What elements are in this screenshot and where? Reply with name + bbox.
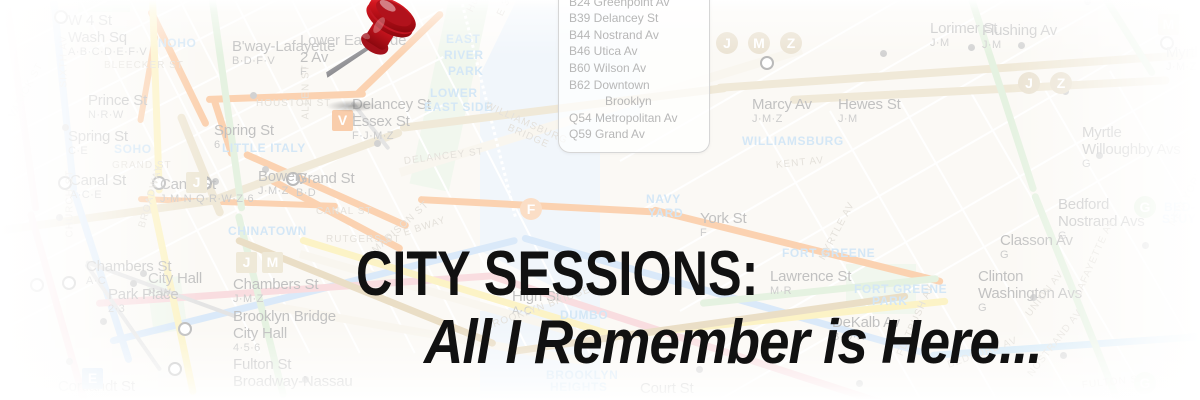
station-name: Brooklyn Bridge <box>233 308 336 325</box>
station-routes: J·M·Z <box>258 185 307 197</box>
station-name: W 4 St <box>68 12 147 29</box>
route-square-j: J <box>236 252 257 273</box>
road-label: BLEECKER ST <box>104 60 184 71</box>
station-label: York StF <box>700 210 746 239</box>
bus-route-item: Brooklyn <box>569 93 699 110</box>
station-label: Chambers StJ·M·Z <box>233 276 318 305</box>
bus-route-item: B62 Downtown <box>569 77 699 94</box>
station-label: City HallR·W <box>148 270 202 299</box>
nyc-transit-bus-panel: NYC Transit Bus B24 Greenpoint AvB39 Del… <box>558 0 710 153</box>
station-dot <box>66 358 73 365</box>
station-label: W 4 StWash SqA·B·C·D·E·F·V <box>68 12 147 58</box>
road-label: SIXTH AV <box>59 35 70 87</box>
road-label: CHURCH ST <box>65 170 76 238</box>
route-bullet-g: G <box>1134 196 1156 218</box>
neighborhood-label: WILLIAMSBURG <box>742 134 844 148</box>
station-name: Flushing Av <box>982 22 1057 39</box>
station-name: York St <box>700 210 746 227</box>
transfer-station <box>54 10 68 24</box>
station-dot <box>56 214 63 221</box>
station-routes: B·Q·R <box>832 331 900 343</box>
station-label: Lawrence StM·R <box>770 268 851 297</box>
station-routes: J·M·Z <box>752 113 812 125</box>
station-label: Prince StN·R·W <box>88 92 147 121</box>
neighborhood-label: NAVY <box>646 192 681 206</box>
transfer-station <box>30 278 44 292</box>
station-name: Court St <box>640 380 693 397</box>
neighborhood-label: NOHO <box>158 36 196 50</box>
neighborhood-label: PARK <box>872 294 908 308</box>
road-label: ALLEN ST <box>301 64 312 119</box>
station-name: Fulton St <box>233 356 353 373</box>
station-routes: G <box>1000 249 1073 261</box>
station-routes: R·W <box>148 287 202 299</box>
station-name: City Hall <box>148 270 202 287</box>
station-name: Classon Av <box>1000 232 1073 249</box>
station-routes: J·M·Z <box>233 293 318 305</box>
transfer-station <box>178 322 192 336</box>
station-routes: J·M <box>982 39 1057 51</box>
station-routes: A·C·E <box>70 189 126 201</box>
station-label: Hewes StJ·M <box>838 96 901 125</box>
station-name: Spring St <box>214 122 274 139</box>
station-label: Marcy AvJ·M·Z <box>752 96 812 125</box>
station-routes: J·M·Z <box>1166 61 1200 73</box>
station-name: Chambers St <box>233 276 318 293</box>
station-label: DeKalb AvB·Q·R <box>832 314 900 343</box>
station-label: Flushing AvJ·M <box>982 22 1057 51</box>
road-label: CANAL ST <box>316 206 373 217</box>
station-routes: 4·5·6 <box>233 342 336 354</box>
station-routes: N·R·W <box>88 109 147 121</box>
station-name: Bowery <box>258 168 307 185</box>
bus-route-item: B44 Nostrand Av <box>569 27 699 44</box>
bus-route-item: Q54 Metropolitan Av <box>569 110 699 127</box>
station-label: Court St <box>640 380 693 397</box>
station-label: Canal StA·C·E <box>70 172 126 201</box>
route-bullet-j: J <box>1018 72 1040 94</box>
route-square-m: M <box>262 252 283 273</box>
station-dot <box>880 50 887 57</box>
neighborhood-label: HEIGHTS <box>550 380 608 394</box>
bus-route-item: B46 Utica Av <box>569 43 699 60</box>
station-name: Bedford <box>1058 196 1145 213</box>
station-name-second-line: City Hall <box>233 325 336 342</box>
station-label: Classon AvG <box>1000 232 1073 261</box>
station-label: BoweryJ·M·Z <box>258 168 307 197</box>
station-dot <box>1060 352 1067 359</box>
route-bullet-f: F <box>520 198 542 220</box>
station-name: Myrtle Av <box>1166 44 1200 61</box>
station-routes: F·J·M·Z <box>352 130 431 142</box>
station-routes: J·M <box>838 113 901 125</box>
pushpin-marker-icon <box>322 0 442 124</box>
city-sessions-banner: W 4 StWash SqA·B·C·D·E·F·VPrince StN·R·W… <box>0 0 1200 400</box>
route-bullet-g: G <box>1134 372 1156 394</box>
station-label: Myrtle AvJ·M·Z <box>1166 44 1200 73</box>
station-name: Myrtle <box>1082 124 1181 141</box>
station-label: Fulton StBroadway-Nassau <box>233 356 353 390</box>
station-name-second-line: Willoughby Avs <box>1082 141 1181 158</box>
station-routes: 2·3 <box>108 303 179 315</box>
route-bullet-z: Z <box>1050 72 1072 94</box>
station-label: MyrtleWilloughby AvsG <box>1082 124 1181 170</box>
road-label: HOUSTON ST <box>256 98 331 109</box>
station-name-second-line: Wash Sq <box>68 29 147 46</box>
station-routes: A·B·C·D·E·F·V <box>68 46 147 58</box>
bus-route-item: B60 Wilson Av <box>569 60 699 77</box>
bus-route-item: Q59 Grand Av <box>569 126 699 143</box>
station-name: DeKalb Av <box>832 314 900 331</box>
route-bullet-j: J <box>716 32 738 54</box>
station-dot <box>856 380 863 387</box>
station-dot <box>100 318 107 325</box>
station-label: Brooklyn BridgeCity Hall4·5·6 <box>233 308 336 354</box>
transfer-station <box>168 362 182 376</box>
station-name: Marcy Av <box>752 96 812 113</box>
station-name: Hewes St <box>838 96 901 113</box>
neighborhood-label: CHINATOWN <box>228 224 307 238</box>
route-square-m: M <box>1158 14 1179 35</box>
neighborhood-label: LITTLE ITALY <box>222 141 306 155</box>
neighborhood-label: DUMBO <box>560 308 608 322</box>
neighborhood-label: EAST <box>446 32 480 46</box>
route-square-j: J <box>186 172 207 193</box>
station-dot <box>696 366 703 373</box>
bus-route-item: B39 Delancey St <box>569 10 699 27</box>
station-name: Prince St <box>88 92 147 109</box>
route-bullet-m: M <box>748 32 770 54</box>
station-dot <box>1142 242 1149 249</box>
bus-route-item: B24 Greenpoint Av <box>569 0 699 10</box>
station-routes: J·M·N·Q·R·W·Z·6 <box>160 193 254 205</box>
bus-route-list: B24 Greenpoint AvB39 Delancey StB44 Nost… <box>569 0 699 143</box>
station-routes: M·R <box>770 285 851 297</box>
transfer-station <box>760 56 774 70</box>
station-name: Lawrence St <box>770 268 851 285</box>
station-name: Clinton <box>978 268 1082 285</box>
station-routes: F <box>700 227 746 239</box>
neighborhood-label: YARD <box>648 206 683 220</box>
route-bullet-z: Z <box>780 32 802 54</box>
neighborhood-label: RIVER <box>444 48 484 62</box>
route-square-e: E <box>82 368 103 389</box>
neighborhood-label: PARK <box>448 64 484 78</box>
neighborhood-label: SOHO <box>114 142 152 156</box>
station-name-second-line: Broadway-Nassau <box>233 373 353 390</box>
transfer-station <box>62 276 76 290</box>
station-name: Canal St <box>70 172 126 189</box>
station-routes: G <box>1082 158 1181 170</box>
station-name-second-line: Washington Avs <box>978 285 1082 302</box>
